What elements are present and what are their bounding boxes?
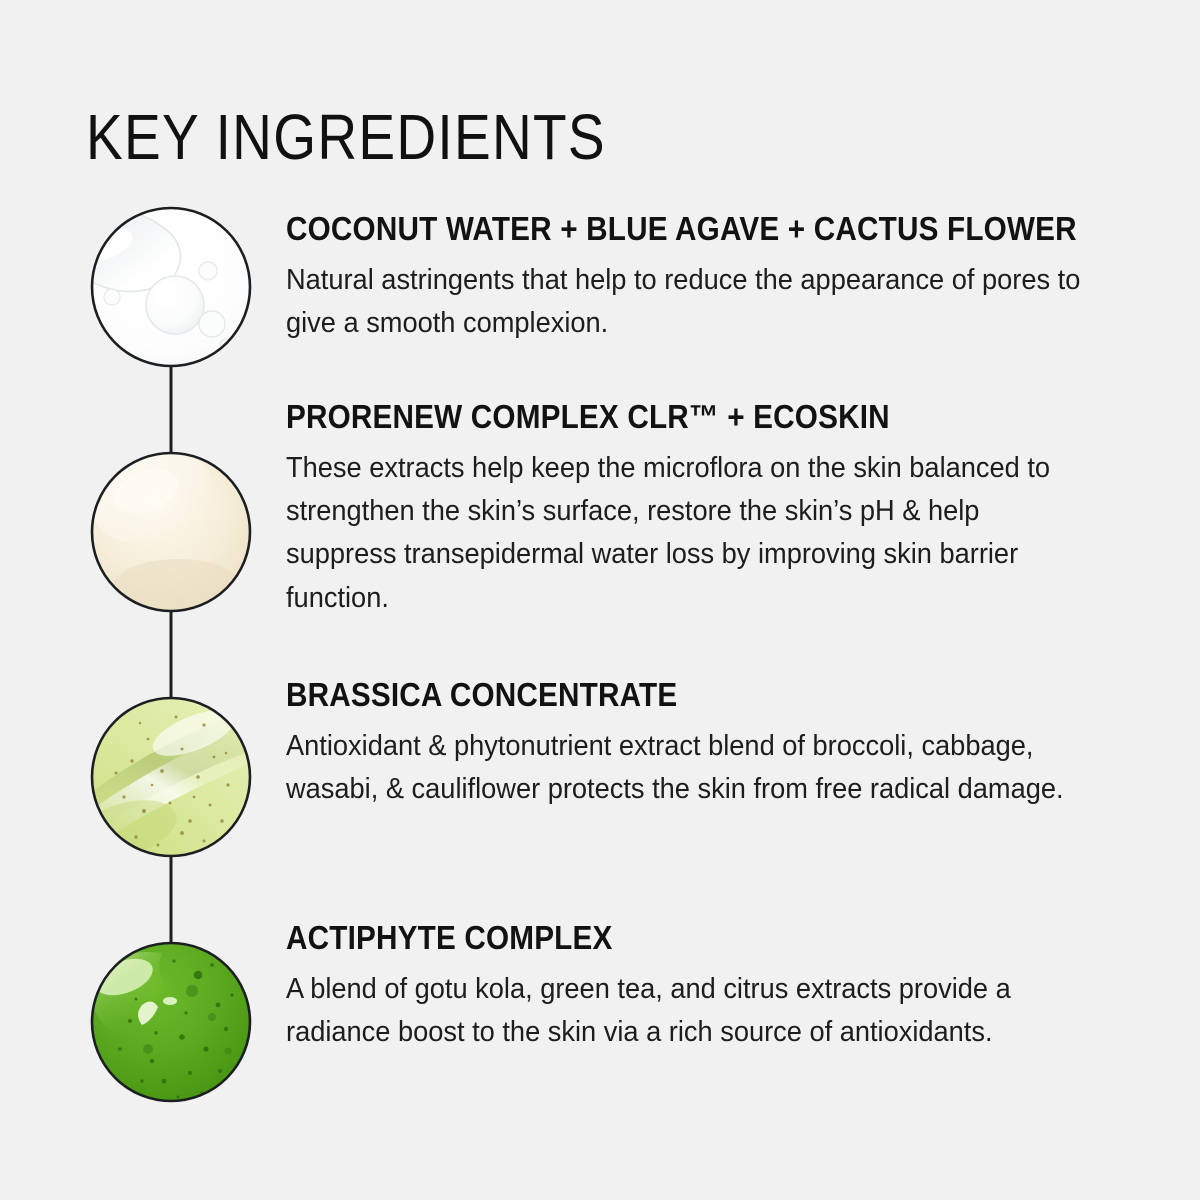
clear-gel-swatch bbox=[86, 205, 250, 366]
cream-lotion-swatch bbox=[86, 436, 250, 619]
ingredient-heading: PRORENEW COMPLEX CLR™ + ECOSKIN bbox=[286, 400, 1042, 435]
bright-green-gel-swatch bbox=[90, 943, 250, 1101]
ingredient-heading: COCONUT WATER + BLUE AGAVE + CACTUS FLOW… bbox=[286, 212, 1042, 247]
ingredient-description: Natural astringents that help to reduce … bbox=[286, 259, 1088, 346]
ingredient-description: A blend of gotu kola, green tea, and cit… bbox=[286, 968, 1088, 1055]
ingredient-heading: BRASSICA CONCENTRATE bbox=[286, 678, 1042, 713]
swatch-rail bbox=[86, 205, 256, 1125]
key-ingredients-panel: KEY INGREDIENTS bbox=[0, 0, 1200, 1200]
ingredient-item-prorenew-complex: PRORENEW COMPLEX CLR™ + ECOSKIN These ex… bbox=[286, 400, 1126, 620]
light-green-scrub-swatch bbox=[86, 698, 256, 868]
swatch-rail-graphic bbox=[86, 205, 256, 1125]
ingredient-item-actiphyte-complex: ACTIPHYTE COMPLEX A blend of gotu kola, … bbox=[286, 921, 1126, 1054]
ingredient-description: These extracts help keep the microflora … bbox=[286, 447, 1088, 620]
ingredient-description: Antioxidant & phytonutrient extract blen… bbox=[286, 725, 1088, 812]
ingredient-heading: ACTIPHYTE COMPLEX bbox=[286, 921, 1042, 956]
page-title: KEY INGREDIENTS bbox=[86, 105, 606, 169]
ingredient-item-coconut-water: COCONUT WATER + BLUE AGAVE + CACTUS FLOW… bbox=[286, 212, 1126, 345]
ingredient-item-brassica-concentrate: BRASSICA CONCENTRATE Antioxidant & phyto… bbox=[286, 678, 1126, 811]
